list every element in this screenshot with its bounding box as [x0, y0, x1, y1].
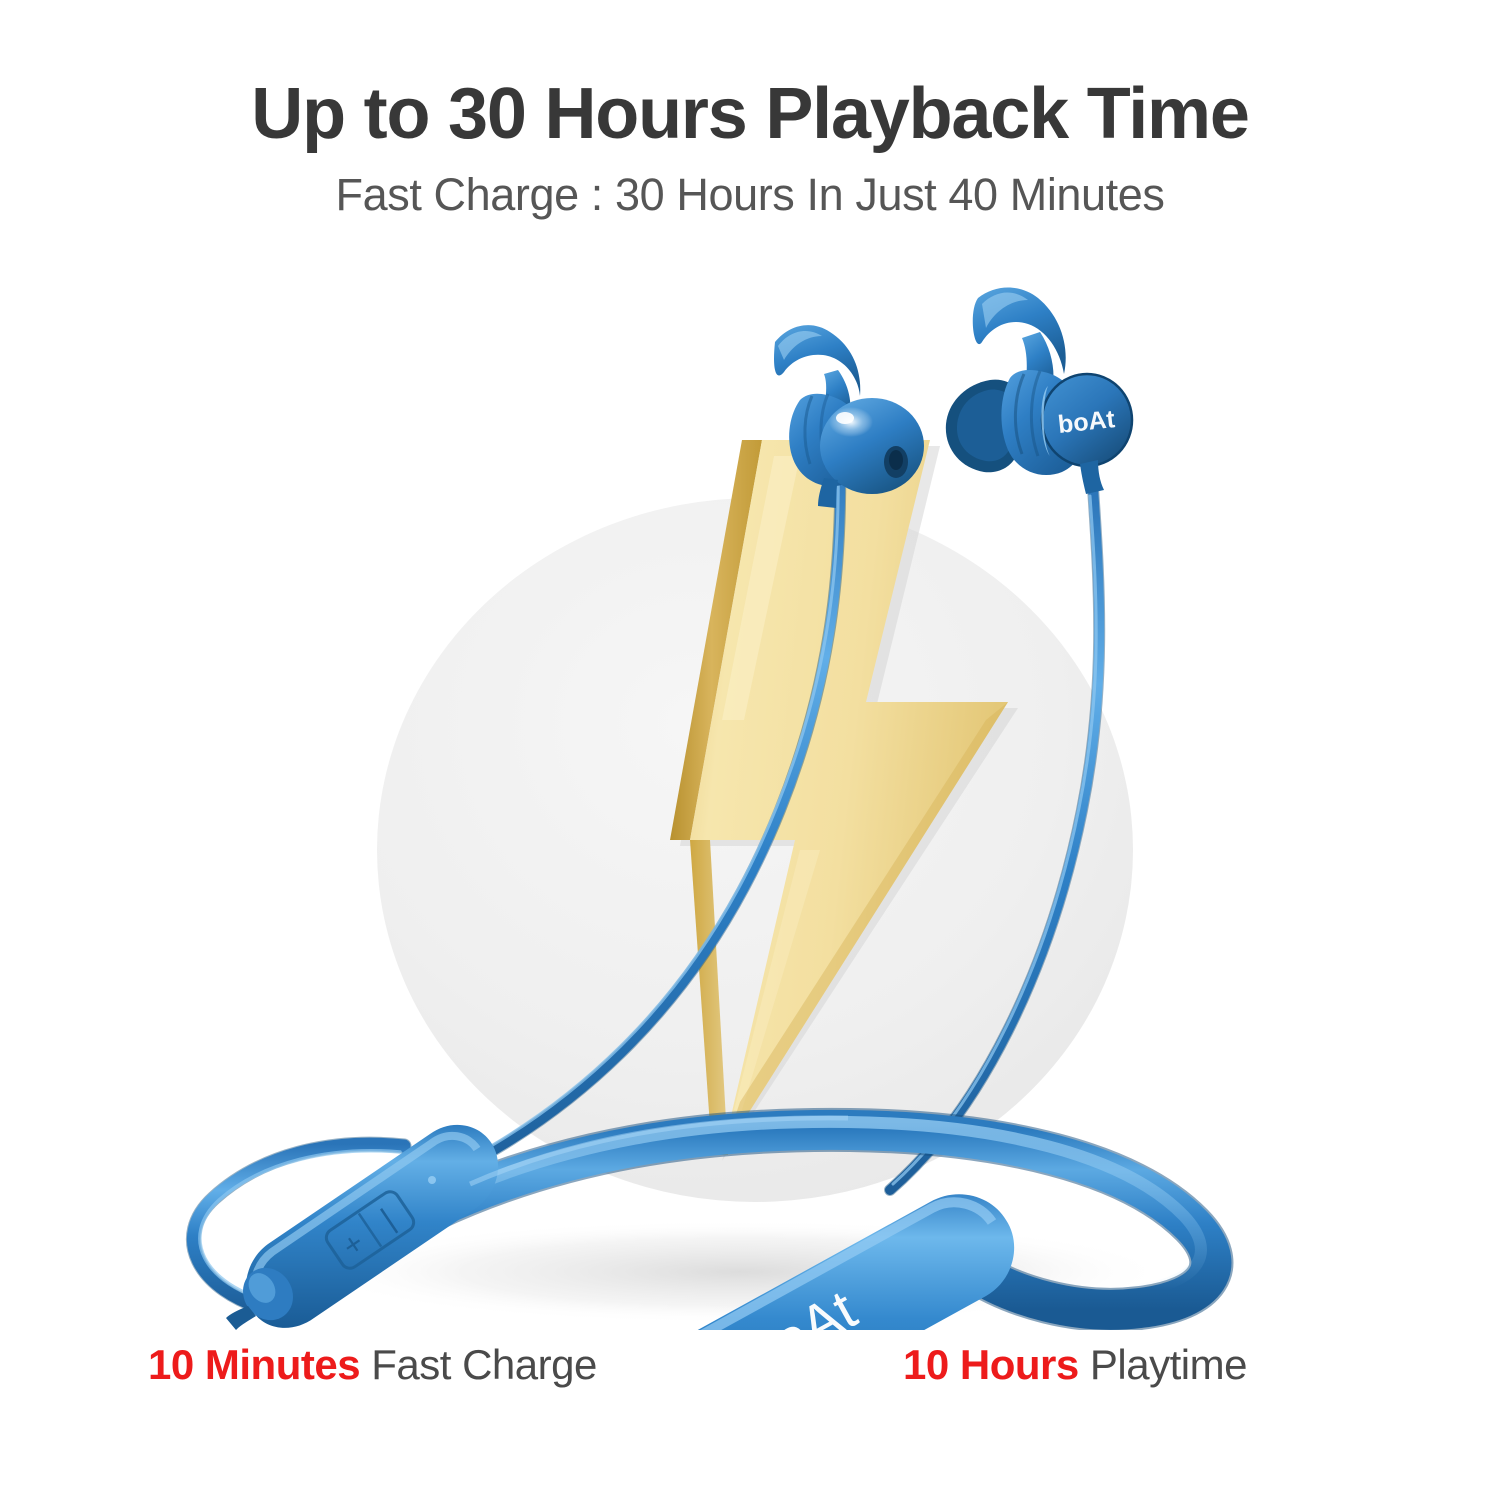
- feature-captions: 10 Minutes Fast Charge 10 Hours Playtime: [0, 1337, 1500, 1407]
- earbud-logo-text: boAt: [1057, 405, 1117, 439]
- page-subtitle: Fast Charge : 30 Hours In Just 40 Minute…: [0, 150, 1500, 217]
- page-title: Up to 30 Hours Playback Time: [0, 0, 1500, 150]
- caption-playtime-value: 10 Hours: [903, 1341, 1079, 1388]
- earbud-right-icon: boAt: [946, 288, 1132, 495]
- header-text-block: Up to 30 Hours Playback Time Fast Charge…: [0, 0, 1500, 217]
- caption-playtime: 10 Hours Playtime: [903, 1337, 1247, 1393]
- caption-fast-charge-value: 10 Minutes: [148, 1341, 360, 1388]
- status-led: [428, 1176, 436, 1184]
- caption-fast-charge: 10 Minutes Fast Charge: [148, 1337, 597, 1393]
- caption-fast-charge-label: Fast Charge: [360, 1341, 597, 1388]
- product-hero-stage: boAt + |: [0, 250, 1500, 1330]
- caption-playtime-label: Playtime: [1079, 1341, 1247, 1388]
